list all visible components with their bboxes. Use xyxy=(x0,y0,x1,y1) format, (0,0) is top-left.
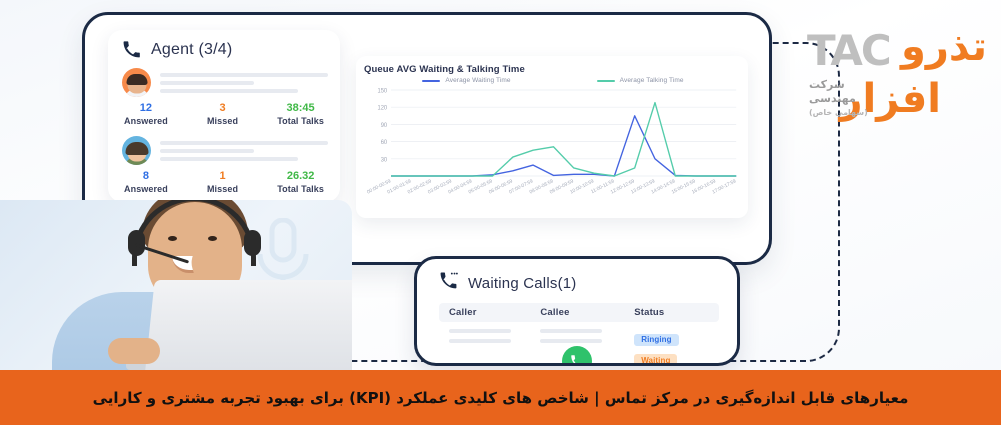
chart-series-line xyxy=(391,116,736,176)
bottom-banner: معیارهای قابل اندازه‌گیری در مرکز تماس |… xyxy=(0,370,1001,425)
chart-legend: Average Waiting Time Average Talking Tim… xyxy=(364,77,742,84)
agent-panel-title: Agent (3/4) xyxy=(151,41,232,59)
legend-swatch-waiting xyxy=(422,80,440,82)
stat-missed-value: 1 xyxy=(207,170,238,183)
chart-plot-area: 30609012015000:00-00:5901:00-01:5902:00-… xyxy=(364,86,742,204)
agent-stats: 8 Answered 1 Missed 26.32 Total Talks xyxy=(122,170,328,195)
agent-identity xyxy=(122,136,328,165)
legend-item-waiting[interactable]: Average Waiting Time xyxy=(422,77,510,84)
logo-brand-fa-line1: تذرو xyxy=(901,24,987,70)
agent-name-placeholder xyxy=(160,73,328,93)
stat-total-talks-label: Total Talks xyxy=(277,183,324,195)
stat-total-talks-label: Total Talks xyxy=(277,115,324,127)
agent-photo xyxy=(0,200,352,370)
stat-answered-value: 12 xyxy=(124,102,168,115)
queue-chart-panel: Queue AVG Waiting & Talking Time Average… xyxy=(356,56,748,218)
logo-sub-line1: شرکت xyxy=(809,78,868,92)
column-header-status: Status xyxy=(634,307,717,318)
avatar xyxy=(122,68,151,97)
agent-panel: Agent (3/4) 12 Answered 3 Missed xyxy=(108,30,340,202)
cell-caller xyxy=(441,329,540,349)
banner-text: معیارهای قابل اندازه‌گیری در مرکز تماس |… xyxy=(93,387,909,409)
stat-missed: 1 Missed xyxy=(207,170,238,195)
stat-total-talks: 38:45 Total Talks xyxy=(277,102,324,127)
logo-subtitle: شرکت مهندسی (سهامی خاص) xyxy=(809,78,868,120)
agent-identity xyxy=(122,68,328,97)
stat-total-talks-value: 38:45 xyxy=(277,102,324,115)
cell-callee xyxy=(540,329,634,349)
logo-row-top: TAC تذرو xyxy=(805,26,987,76)
stat-answered-label: Answered xyxy=(124,183,168,195)
agent-row[interactable]: 8 Answered 1 Missed 26.32 Total Talks xyxy=(122,136,328,195)
chart-title: Queue AVG Waiting & Talking Time xyxy=(364,64,742,75)
waiting-calls-card: Waiting Calls(1) Caller Callee Status Ri… xyxy=(414,256,740,366)
stat-missed-label: Missed xyxy=(207,115,238,127)
waiting-calls-header: Waiting Calls(1) xyxy=(439,271,719,295)
chart-series-line xyxy=(391,103,736,176)
stat-answered-label: Answered xyxy=(124,115,168,127)
legend-item-talking[interactable]: Average Talking Time xyxy=(597,77,684,84)
cell-status: Ringing Waiting xyxy=(634,329,717,366)
tac-logo: TAC تذرو افزار شرکت مهندسی (سهامی خاص) xyxy=(805,26,987,136)
stat-total-talks: 26.32 Total Talks xyxy=(277,170,324,195)
chart-y-tick-label: 60 xyxy=(381,140,388,146)
logo-row-bottom: افزار شرکت مهندسی (سهامی خاص) xyxy=(805,76,987,132)
chart-y-tick-label: 30 xyxy=(381,157,388,163)
logo-brand-latin: TAC xyxy=(807,30,890,72)
agent-panel-header: Agent (3/4) xyxy=(122,40,328,59)
agent-name-placeholder xyxy=(160,141,328,161)
legend-swatch-talking xyxy=(597,80,615,82)
stat-missed: 3 Missed xyxy=(207,102,238,127)
legend-label-waiting: Average Waiting Time xyxy=(445,77,510,84)
stat-missed-value: 3 xyxy=(207,102,238,115)
column-header-callee: Callee xyxy=(540,307,634,318)
status-badge: Waiting xyxy=(634,354,677,366)
legend-label-talking: Average Talking Time xyxy=(620,77,684,84)
avatar xyxy=(122,136,151,165)
chart-y-tick-label: 90 xyxy=(381,123,388,129)
logo-sub-line3: (سهامی خاص) xyxy=(809,106,868,120)
chart-y-tick-label: 150 xyxy=(378,88,388,94)
status-badge: Ringing xyxy=(634,334,678,346)
screenshot-root: Agent (3/4) 12 Answered 3 Missed xyxy=(0,0,1001,425)
column-header-caller: Caller xyxy=(441,307,540,318)
chart-y-tick-label: 120 xyxy=(378,106,388,112)
logo-sub-line2: مهندسی xyxy=(809,92,868,106)
agent-stats: 12 Answered 3 Missed 38:45 Total Talks xyxy=(122,102,328,127)
stat-total-talks-value: 26.32 xyxy=(277,170,324,183)
chart-svg: 30609012015000:00-00:5901:00-01:5902:00-… xyxy=(364,86,742,204)
waiting-calls-title: Waiting Calls(1) xyxy=(468,275,577,292)
waiting-calls-table-header: Caller Callee Status xyxy=(439,303,719,322)
stat-answered: 12 Answered xyxy=(124,102,168,127)
stat-missed-label: Missed xyxy=(207,183,238,195)
agent-row[interactable]: 12 Answered 3 Missed 38:45 Total Talks xyxy=(122,68,328,127)
stat-answered: 8 Answered xyxy=(124,170,168,195)
stat-answered-value: 8 xyxy=(124,170,168,183)
phone-ringing-icon xyxy=(439,271,458,295)
phone-handset-icon xyxy=(122,40,141,59)
